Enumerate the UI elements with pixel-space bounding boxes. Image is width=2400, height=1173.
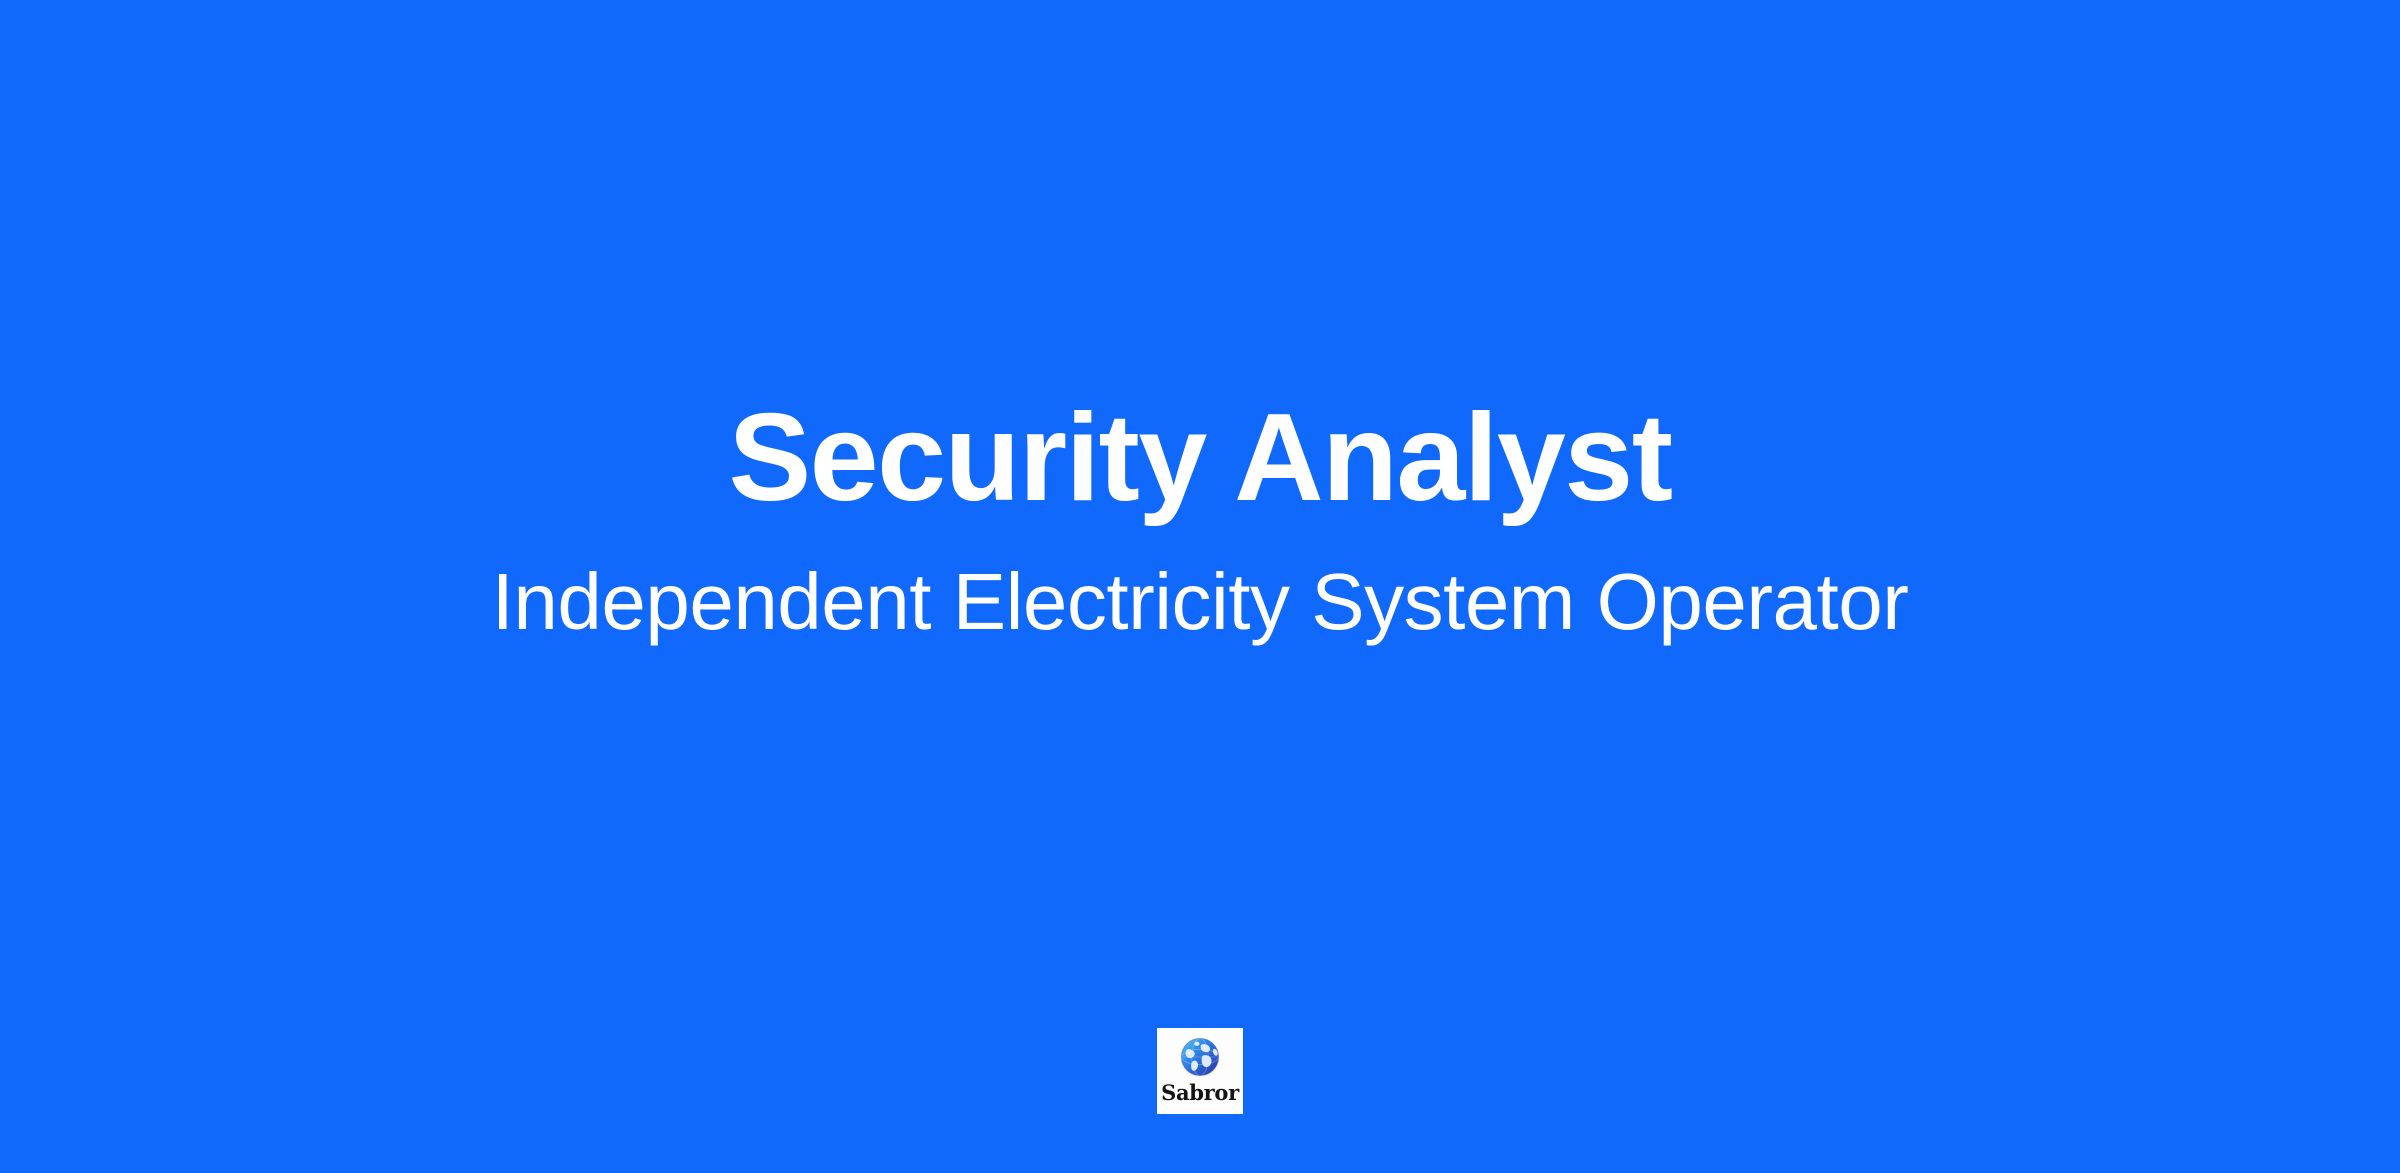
globe-icon: [1178, 1035, 1222, 1079]
page-title: Security Analyst: [0, 396, 2400, 520]
title-block: Security Analyst Independent Electricity…: [0, 396, 2400, 642]
page-subtitle: Independent Electricity System Operator: [0, 520, 2400, 642]
logo-wordmark: Sabror: [1161, 1082, 1239, 1103]
slide-canvas: Security Analyst Independent Electricity…: [0, 0, 2400, 1173]
logo: Sabror: [1157, 1028, 1243, 1114]
